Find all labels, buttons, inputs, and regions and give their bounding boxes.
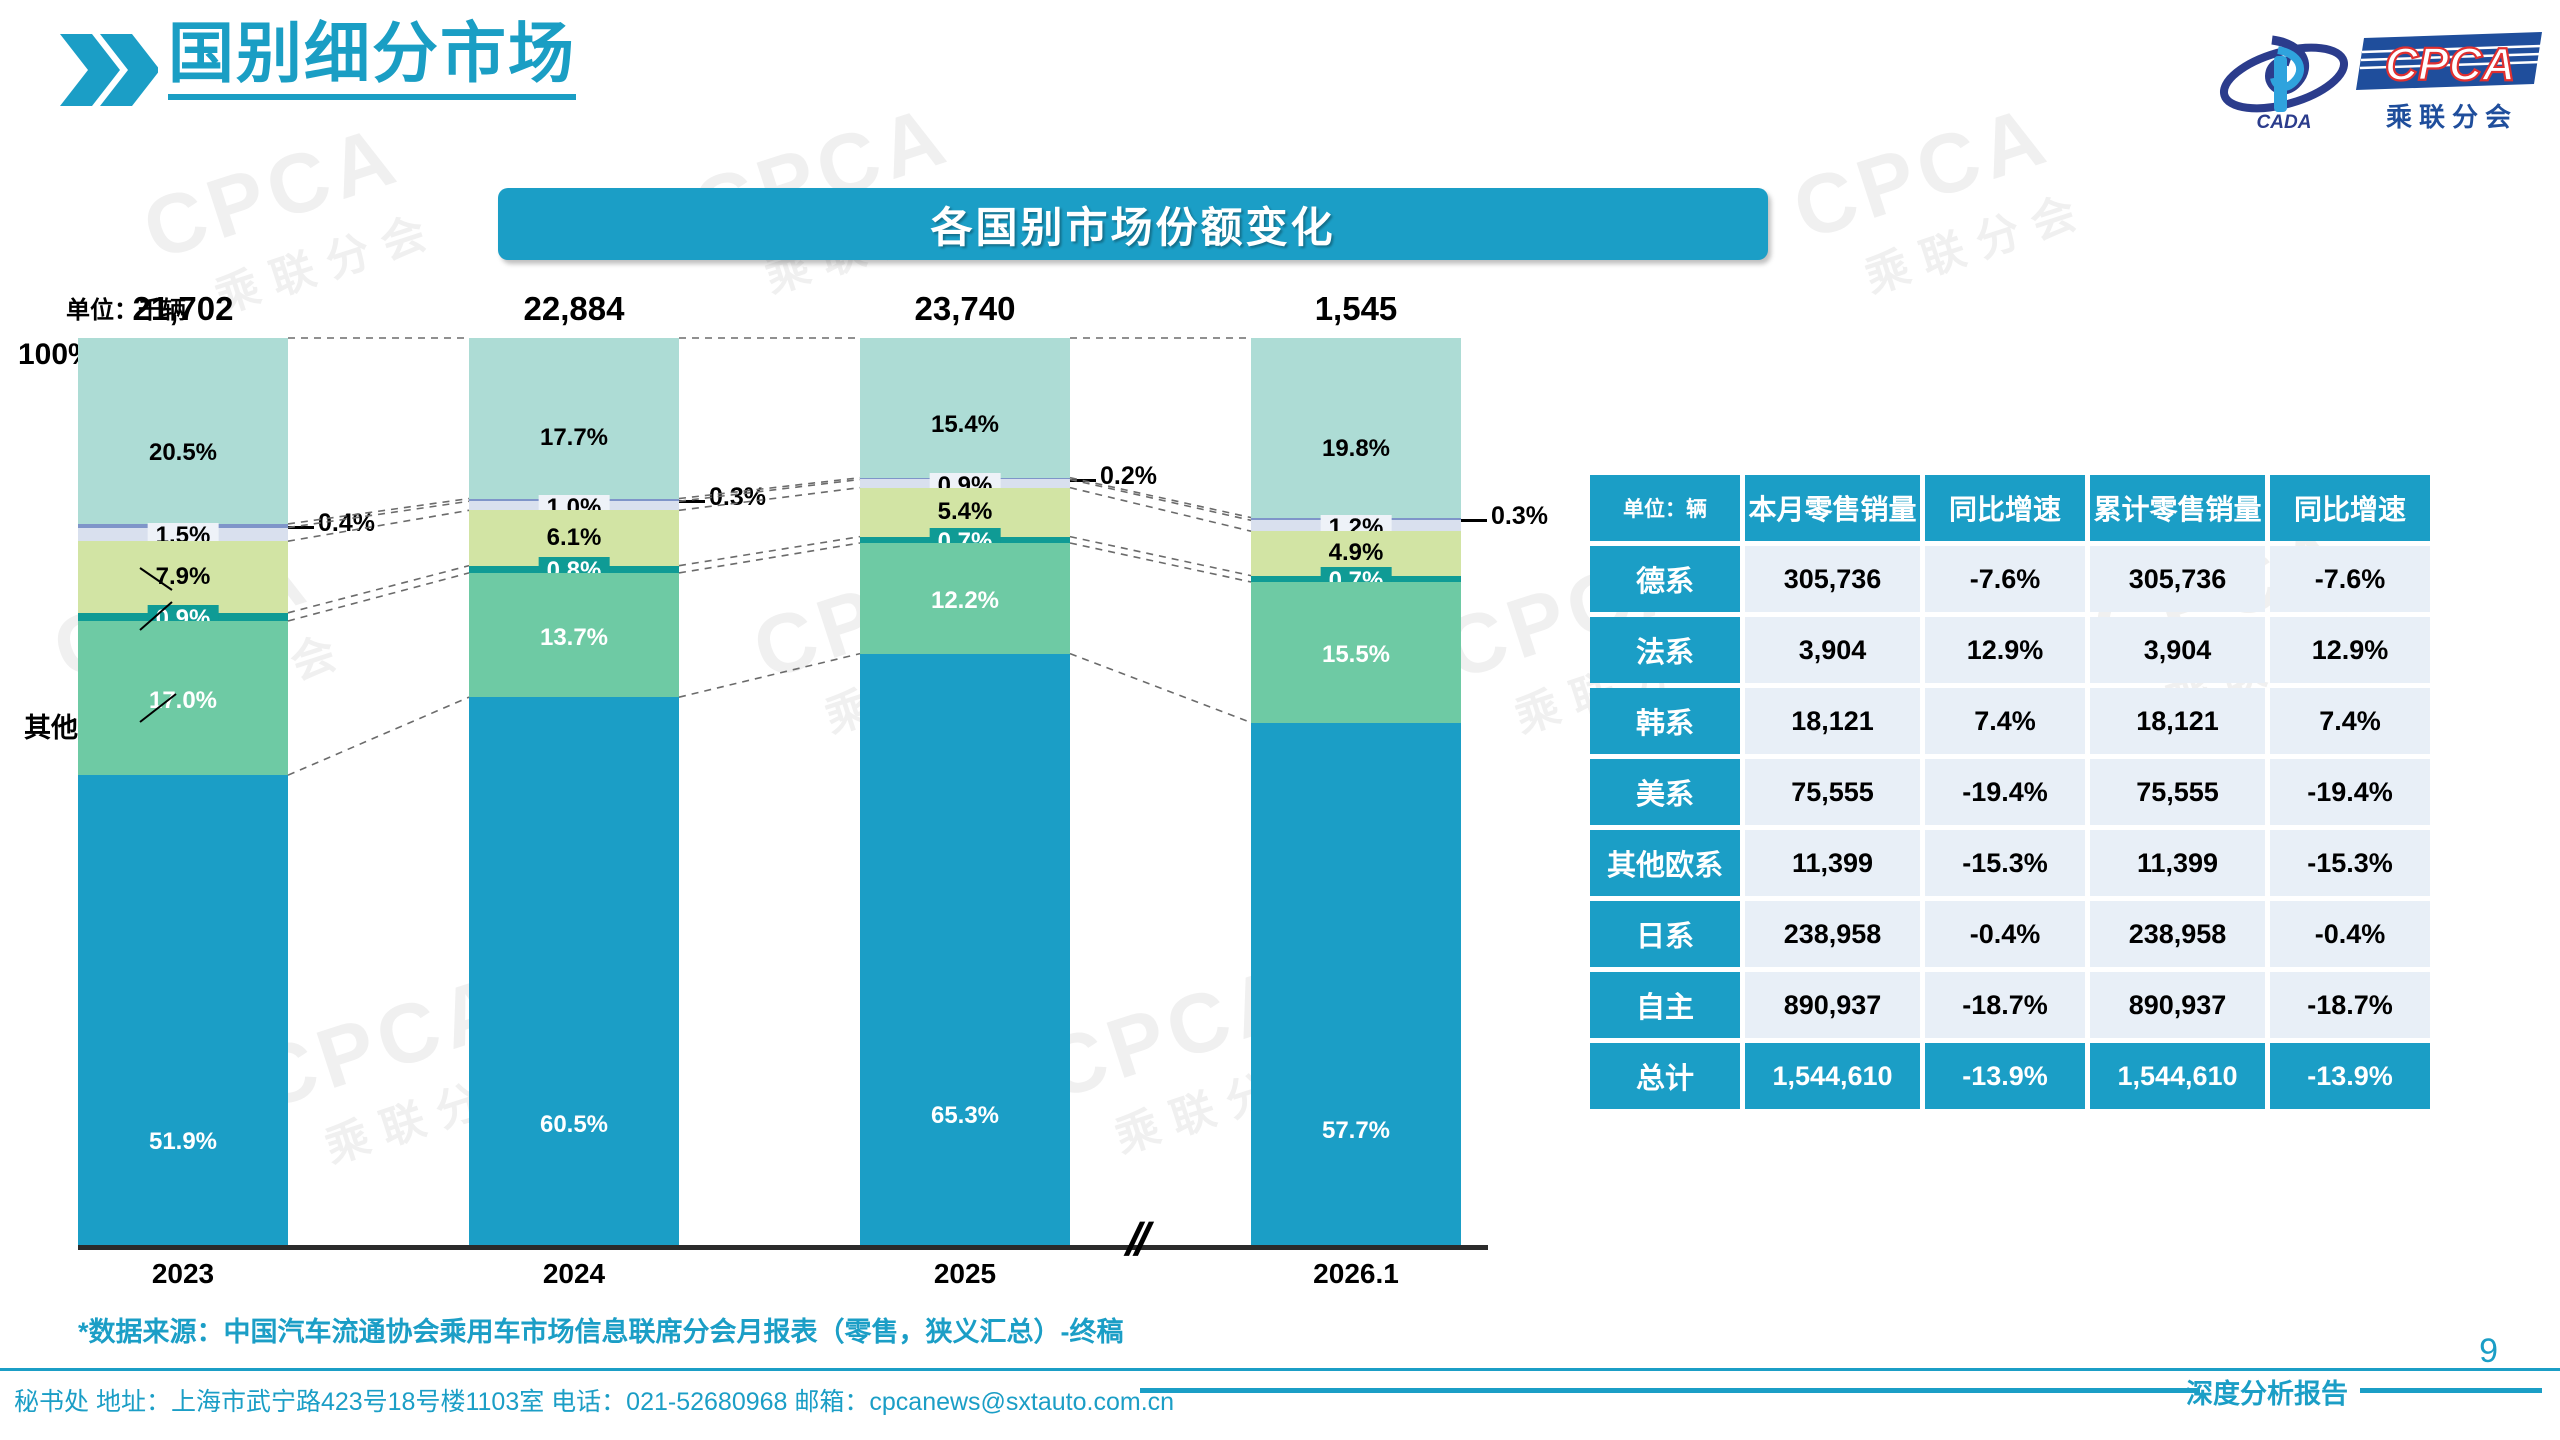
bar-2024[interactable]: 22,88417.7%1.0%6.1%0.8%13.7%60.5% <box>469 338 679 1245</box>
connector-line <box>288 697 469 775</box>
segment-value-label: 4.9% <box>1251 541 1461 565</box>
bar-total-label: 1,545 <box>1251 290 1461 328</box>
table-cell: 890,937 <box>1745 972 1920 1038</box>
table-cell: 11,399 <box>2090 830 2265 896</box>
connector-line <box>679 537 860 566</box>
table-cell: 11,399 <box>1745 830 1920 896</box>
segment-value-label: 19.8% <box>1251 437 1461 461</box>
table-cell: 75,555 <box>1745 759 1920 825</box>
outside-value-label-法系: 0.3% <box>1491 502 1548 531</box>
connector-line <box>679 478 860 499</box>
table-row[interactable]: 日系238,958-0.4%238,958-0.4% <box>1590 901 2430 967</box>
table-cell: 305,736 <box>2090 546 2265 612</box>
table-cell: 12.9% <box>1925 617 2085 683</box>
table-row-label: 日系 <box>1590 901 1740 967</box>
segment-value-label: 17.0% <box>78 689 288 713</box>
connector-line <box>288 510 469 541</box>
segment-value-label: 60.5% <box>469 1113 679 1137</box>
table-header-unit: 单位：辆 <box>1590 475 1740 541</box>
source-note: *数据来源：中国汽车流通协会乘用车市场信息联席分会月报表（零售，狭义汇总）-终稿 <box>78 1310 1124 1349</box>
table-cell: -15.3% <box>1925 830 2085 896</box>
table-row[interactable]: 韩系18,1217.4%18,1217.4% <box>1590 688 2430 754</box>
connector-line <box>1070 488 1251 532</box>
segment-value-label: 5.4% <box>860 500 1070 524</box>
table-cell: -7.6% <box>1925 546 2085 612</box>
outside-label-leader-line <box>1070 479 1096 482</box>
footer-accent-line-left <box>1140 1388 2200 1393</box>
table-header-row: 单位：辆 本月零售销量 同比增速 累计零售销量 同比增速 <box>1590 475 2430 541</box>
table-cell: 3,904 <box>1745 617 1920 683</box>
bar-segment-德系[interactable] <box>860 338 1070 478</box>
segment-value-label: 15.4% <box>860 413 1070 437</box>
bar-segment-德系[interactable] <box>1251 338 1461 518</box>
svg-text:CADA: CADA <box>2257 112 2312 133</box>
outside-label-leader-line <box>1461 519 1487 522</box>
bar-2026.1[interactable]: 1,54519.8%1.2%4.9%0.7%15.5%57.7% <box>1251 338 1461 1245</box>
page-number: 9 <box>2479 1332 2498 1371</box>
table-cell: 1,544,610 <box>2090 1043 2265 1109</box>
chart-title-banner: 各国别市场份额变化 <box>498 188 1768 260</box>
table-header-yoy-1: 同比增速 <box>1925 475 2085 541</box>
table-row[interactable]: 自主890,937-18.7%890,937-18.7% <box>1590 972 2430 1038</box>
page-title: 国别细分市场 <box>168 20 576 100</box>
connector-line <box>1070 478 1251 518</box>
table-cell: -19.4% <box>1925 759 2085 825</box>
table-cell: -18.7% <box>1925 972 2085 1038</box>
bar-total-label: 21,702 <box>78 290 288 328</box>
connector-line <box>288 566 469 613</box>
connector-line <box>288 499 469 524</box>
slide-header: 国别细分市场 CADA CPCA 乘联分会 <box>0 0 2560 160</box>
segment-value-label: 57.7% <box>1251 1119 1461 1143</box>
table-cell: 1,544,610 <box>1745 1043 1920 1109</box>
slide: CPCA乘联分会CPCA乘联分会CPCA乘联分会CPCA乘联分会CPCA乘联分会… <box>0 0 2560 1440</box>
table-cell: -13.9% <box>2270 1043 2430 1109</box>
x-axis-label-2024: 2024 <box>469 1258 679 1290</box>
table-cell: 7.4% <box>2270 688 2430 754</box>
table-cell: 238,958 <box>1745 901 1920 967</box>
connector-line <box>1070 537 1251 576</box>
segment-value-label: 7.9% <box>78 565 288 589</box>
table-cell: 7.4% <box>1925 688 2085 754</box>
table-row[interactable]: 法系3,90412.9%3,90412.9% <box>1590 617 2430 683</box>
table-cell: -18.7% <box>2270 972 2430 1038</box>
segment-value-label: 12.2% <box>860 589 1070 613</box>
table-cell: -0.4% <box>2270 901 2430 967</box>
bar-segment-自主[interactable] <box>1251 723 1461 1246</box>
outside-value-label-法系: 0.2% <box>1100 462 1157 491</box>
table-row-label: 美系 <box>1590 759 1740 825</box>
outside-value-label-法系: 0.4% <box>318 509 375 538</box>
table-cell: -13.9% <box>1925 1043 2085 1109</box>
connector-line <box>679 479 860 501</box>
chart-title: 各国别市场份额变化 <box>930 194 1335 255</box>
table-cell: 305,736 <box>1745 546 1920 612</box>
table-row-label: 韩系 <box>1590 688 1740 754</box>
bar-segment-自主[interactable] <box>469 697 679 1246</box>
table-cell: 12.9% <box>2270 617 2430 683</box>
table-cell: -0.4% <box>1925 901 2085 967</box>
axis-break-icon: // <box>1120 1212 1153 1266</box>
bar-2025[interactable]: 23,74015.4%0.9%5.4%0.7%12.2%65.3% <box>860 338 1070 1245</box>
double-chevron-right-icon <box>58 30 158 115</box>
table-row-label: 德系 <box>1590 546 1740 612</box>
outside-label-leader-line <box>288 526 314 529</box>
table-row-label: 其他欧系 <box>1590 830 1740 896</box>
bar-segment-德系[interactable] <box>469 338 679 499</box>
table-cell: 238,958 <box>2090 901 2265 967</box>
footer-contact: 秘书处 地址：上海市武宁路423号18号楼1103室 电话：021-526809… <box>14 1382 1174 1418</box>
x-axis-label-2025: 2025 <box>860 1258 1070 1290</box>
table-cell: -7.6% <box>2270 546 2430 612</box>
table-cell: -19.4% <box>2270 759 2430 825</box>
segment-value-label: 65.3% <box>860 1104 1070 1128</box>
table-row[interactable]: 总计1,544,610-13.9%1,544,610-13.9% <box>1590 1043 2430 1109</box>
table-header-month-retail: 本月零售销量 <box>1745 475 1920 541</box>
connector-line <box>288 573 469 621</box>
bar-segment-自主[interactable] <box>78 775 288 1246</box>
x-axis-label-2026.1: 2026.1 <box>1251 1258 1461 1290</box>
table-cell: 18,121 <box>2090 688 2265 754</box>
segment-value-label: 20.5% <box>78 441 288 465</box>
segment-value-label: 6.1% <box>469 526 679 550</box>
svg-text:乘联分会: 乘联分会 <box>2385 102 2518 132</box>
country-sales-table: 单位：辆 本月零售销量 同比增速 累计零售销量 同比增速 德系305,736-7… <box>1585 470 2435 1114</box>
footer-accent-line-right <box>2360 1388 2542 1393</box>
bar-total-label: 23,740 <box>860 290 1070 328</box>
bar-segment-德系[interactable] <box>78 338 288 524</box>
bar-segment-自主[interactable] <box>860 654 1070 1246</box>
table-body: 德系305,736-7.6%305,736-7.6%法系3,90412.9%3,… <box>1590 546 2430 1109</box>
bar-2023[interactable]: 21,70220.5%1.5%7.9%0.9%17.0%51.9% <box>78 338 288 1245</box>
table-cell: 890,937 <box>2090 972 2265 1038</box>
x-axis-line <box>78 1245 1488 1250</box>
table-row[interactable]: 德系305,736-7.6%305,736-7.6% <box>1590 546 2430 612</box>
connector-line <box>288 501 469 527</box>
connector-line <box>1070 543 1251 582</box>
segment-value-label: 15.5% <box>1251 643 1461 667</box>
table-cell: 3,904 <box>2090 617 2265 683</box>
x-axis-label-2023: 2023 <box>78 1258 288 1290</box>
cpca-logo: CADA CPCA 乘联分会 <box>2212 22 2542 134</box>
table-header-yoy-2: 同比增速 <box>2270 475 2430 541</box>
svg-text:CPCA: CPCA <box>2385 38 2515 90</box>
connector-line <box>679 543 860 573</box>
footer-divider <box>0 1368 2560 1371</box>
outside-value-label-法系: 0.3% <box>709 483 766 512</box>
bar-total-label: 22,884 <box>469 290 679 328</box>
segment-value-label: 17.7% <box>469 426 679 450</box>
connector-line <box>679 488 860 511</box>
footer-report-label: 深度分析报告 <box>2186 1372 2348 1411</box>
connector-line <box>1070 654 1251 723</box>
table-row-label: 总计 <box>1590 1043 1740 1109</box>
table-cell: 75,555 <box>2090 759 2265 825</box>
table-cell: -15.3% <box>2270 830 2430 896</box>
segment-value-label: 51.9% <box>78 1130 288 1154</box>
stacked-bar-chart: 单位：千辆 100% 德系法系韩系美系其他欧系日系自主 21,70220.5%1… <box>0 290 1580 1280</box>
table-row[interactable]: 美系75,555-19.4%75,555-19.4% <box>1590 759 2430 825</box>
table-cell: 18,121 <box>1745 688 1920 754</box>
connector-line <box>1070 479 1251 520</box>
connector-line <box>679 654 860 698</box>
table-row-label: 法系 <box>1590 617 1740 683</box>
table-row[interactable]: 其他欧系11,399-15.3%11,399-15.3% <box>1590 830 2430 896</box>
segment-value-label: 13.7% <box>469 626 679 650</box>
table-header-cumulative-retail: 累计零售销量 <box>2090 475 2265 541</box>
table-row-label: 自主 <box>1590 972 1740 1038</box>
outside-label-leader-line <box>679 500 705 503</box>
